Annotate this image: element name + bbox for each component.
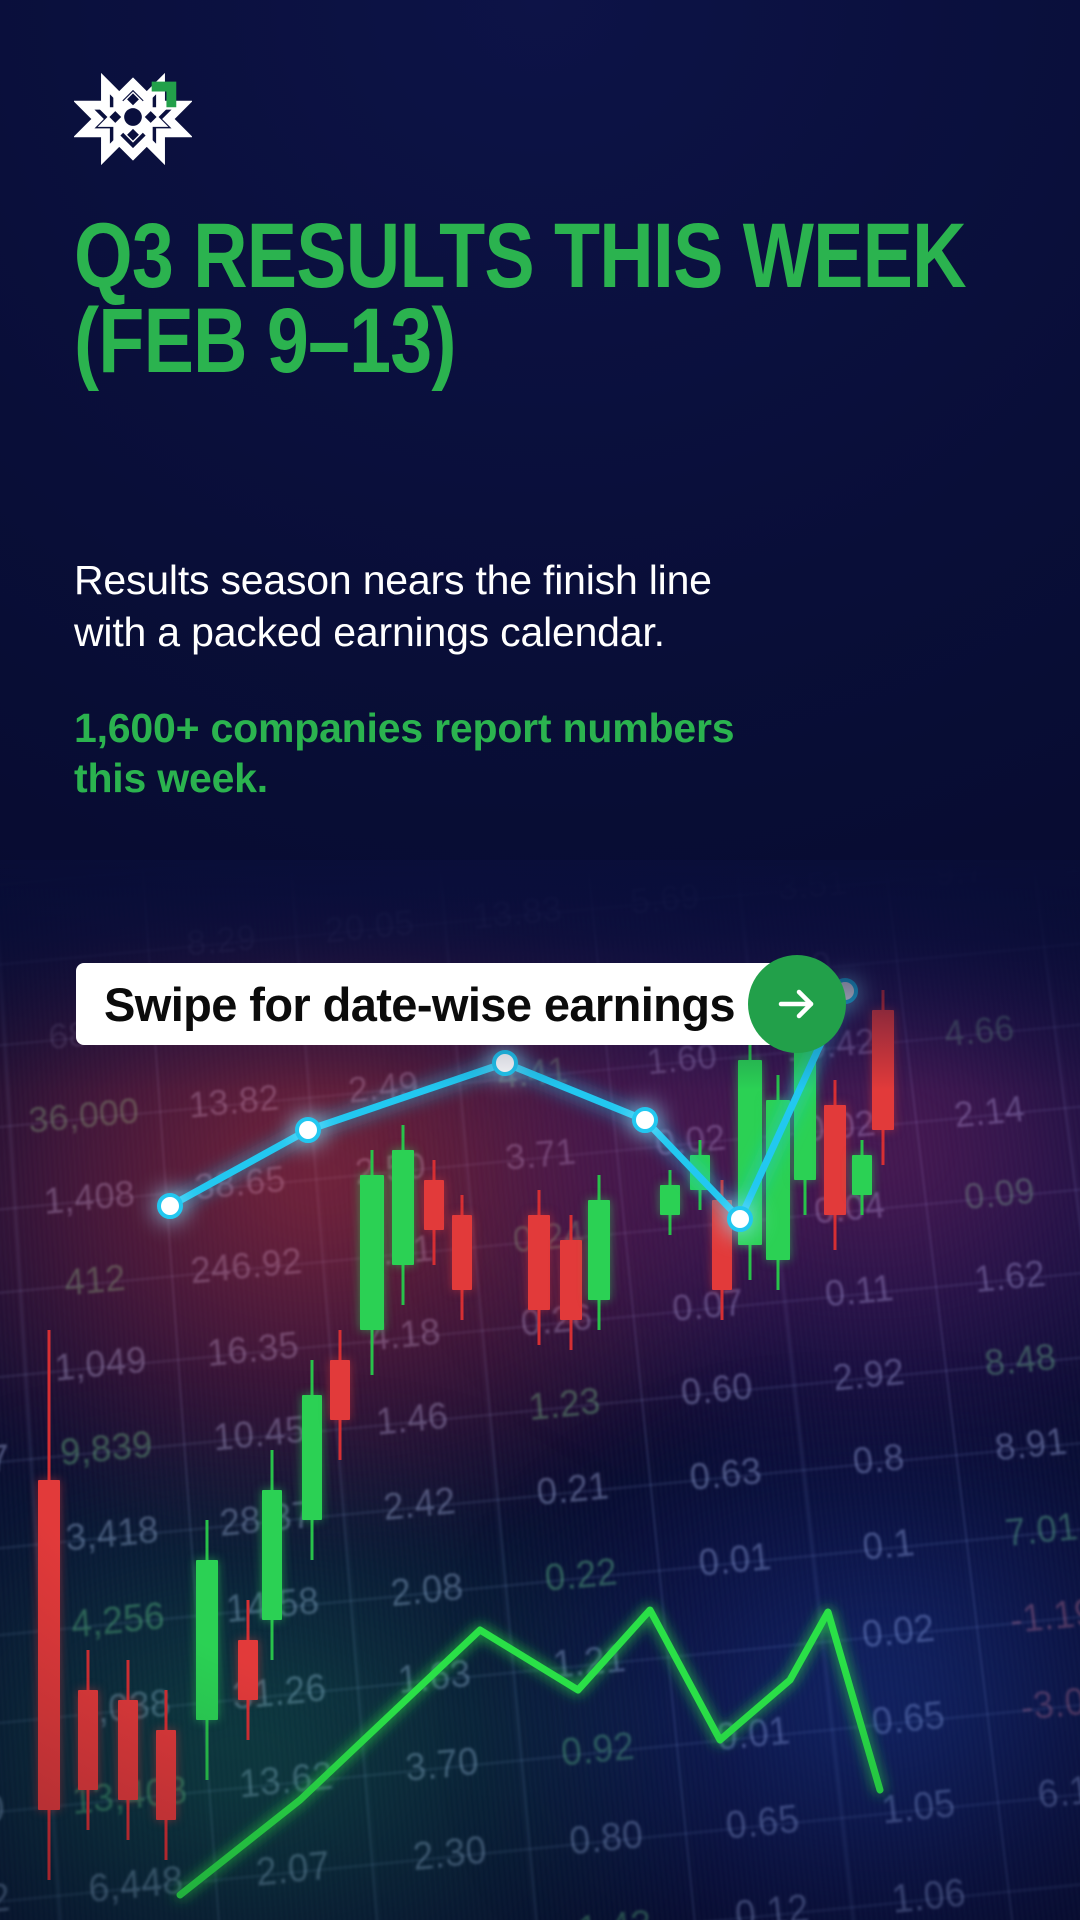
brand-logo — [74, 60, 192, 178]
highlight-line-1: 1,600+ companies report numbers — [74, 703, 814, 753]
arrow-right-icon — [771, 978, 823, 1030]
rosette-star-logo-icon — [74, 60, 192, 178]
page-title: Q3 RESULTS THIS WEEK (FEB 9–13) — [74, 214, 845, 383]
cta-pill[interactable]: Swipe for date-wise earnings — [76, 963, 816, 1045]
poster-canvas: 8.2920.0513.835.693.519.714.1774.0819.1-… — [0, 0, 1080, 1920]
cta-label: Swipe for date-wise earnings — [104, 981, 735, 1028]
trend-node-dot — [729, 1208, 751, 1230]
trend-node-dot — [634, 1109, 656, 1131]
trend-node-dot — [494, 1052, 516, 1074]
subtitle-line-2: with a packed earnings calendar. — [74, 607, 794, 659]
trend-line-green-zigzag-line — [180, 1610, 880, 1895]
subtitle-line-1: Results season nears the finish line — [74, 555, 794, 607]
trend-node-dot — [159, 1195, 181, 1217]
trend-node-dot — [297, 1119, 319, 1141]
subtitle-text: Results season nears the finish line wit… — [74, 555, 794, 658]
highlight-line-2: this week. — [74, 753, 814, 803]
headline-line-1: Q3 RESULTS THIS WEEK — [74, 214, 845, 299]
headline-line-2: (FEB 9–13) — [74, 299, 845, 384]
arrow-right-button[interactable] — [748, 955, 846, 1053]
highlight-stat-text: 1,600+ companies report numbers this wee… — [74, 703, 814, 803]
